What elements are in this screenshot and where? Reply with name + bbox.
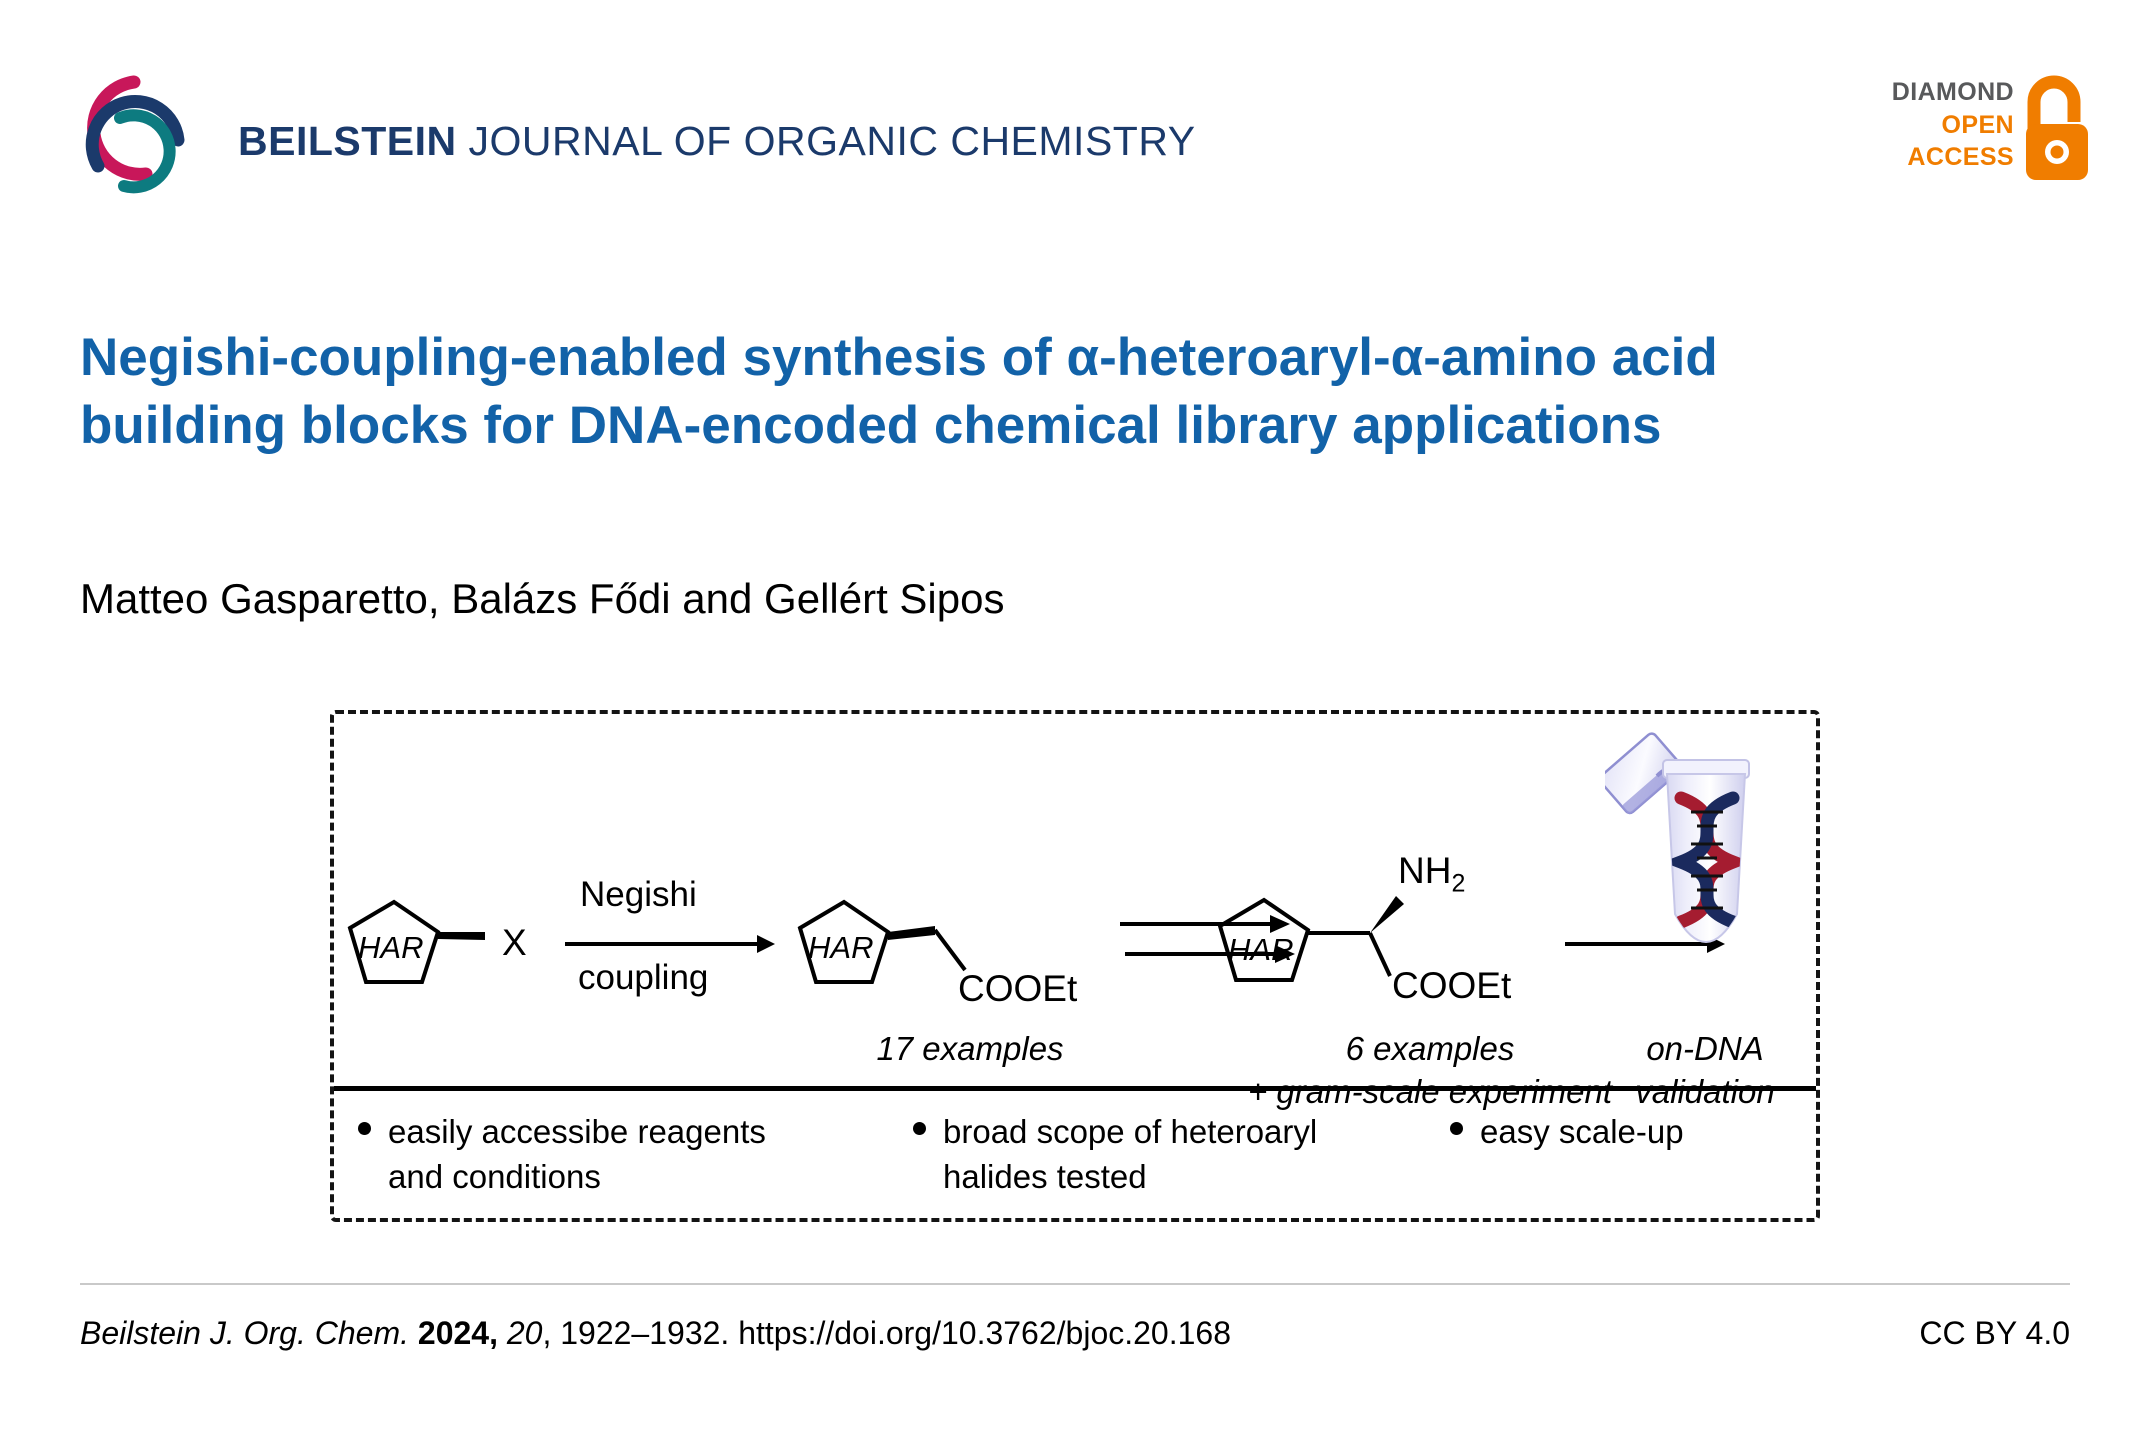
journal-name-rest: JOURNAL OF ORGANIC CHEMISTRY bbox=[457, 118, 1196, 164]
amine-main: NH bbox=[1398, 850, 1451, 891]
structure-3-amine-label: NH2 bbox=[1398, 850, 1465, 898]
author-list: Matteo Gasparetto, Balázs Fődi and Gellé… bbox=[80, 575, 1004, 623]
structure-1-ring-label: HAR bbox=[358, 930, 423, 966]
bullet-item-1: easily accessibe reagents and conditions bbox=[388, 1110, 808, 1200]
caption-6-examples: 6 examples bbox=[1290, 1030, 1570, 1068]
open-padlock-icon bbox=[2020, 72, 2094, 184]
beilstein-triple-arc-logo-icon bbox=[62, 62, 194, 194]
bullet-item-1-line-1: easily accessibe reagents bbox=[388, 1110, 808, 1155]
citation-pages: , 1922–1932. bbox=[542, 1315, 738, 1351]
citation-doi[interactable]: https://doi.org/10.3762/bjoc.20.168 bbox=[738, 1315, 1231, 1351]
structure-2-ring-label: HAR bbox=[808, 930, 873, 966]
highlight-bullet-list: easily accessibe reagents and conditions… bbox=[330, 1110, 1820, 1220]
reaction-condition-line-1: Negishi bbox=[580, 875, 697, 915]
bullet-dot-icon bbox=[1450, 1122, 1463, 1135]
bullet-item-2-line-2: halides tested bbox=[943, 1155, 1373, 1200]
structure-2-ester-label: COOEt bbox=[958, 968, 1077, 1010]
diamond-open-access-badge: DIAMOND OPEN ACCESS bbox=[1864, 72, 2094, 190]
structure-3-ring-label: HAR bbox=[1228, 932, 1293, 968]
reaction-arrow-1 bbox=[565, 932, 775, 956]
citation-line: Beilstein J. Org. Chem. 2024, 20, 1922–1… bbox=[80, 1315, 1231, 1352]
journal-brand: BEILSTEIN bbox=[238, 118, 457, 164]
caption-gram-scale: + gram-scale experiment bbox=[1220, 1073, 1640, 1111]
bullet-item-3: easy scale-up bbox=[1480, 1110, 1810, 1155]
open-access-label: DIAMOND OPEN ACCESS bbox=[1892, 76, 2014, 174]
bullet-item-2: broad scope of heteroaryl halides tested bbox=[943, 1110, 1373, 1200]
license-label: CC BY 4.0 bbox=[1919, 1315, 2070, 1352]
oa-diamond-line: DIAMOND bbox=[1892, 76, 2014, 109]
bullet-item-3-line-1: easy scale-up bbox=[1480, 1110, 1810, 1155]
bullet-dot-icon bbox=[913, 1122, 926, 1135]
citation-journal: Beilstein J. Org. Chem. bbox=[80, 1315, 409, 1351]
bullet-item-2-line-1: broad scope of heteroaryl bbox=[943, 1110, 1373, 1155]
citation-year: 2024, bbox=[418, 1315, 498, 1351]
oa-access-line: ACCESS bbox=[1892, 141, 2014, 174]
amine-subscript: 2 bbox=[1451, 869, 1465, 897]
oa-open-line: OPEN bbox=[1892, 109, 2014, 142]
caption-on-dna: on-DNA bbox=[1605, 1030, 1805, 1068]
reaction-condition-line-2: coupling bbox=[578, 958, 708, 998]
structure-1-leaving-group: X bbox=[502, 922, 527, 964]
journal-masthead: BEILSTEIN JOURNAL OF ORGANIC CHEMISTRY D… bbox=[0, 0, 2150, 210]
bullet-dot-icon bbox=[358, 1122, 371, 1135]
caption-validation: validation bbox=[1605, 1073, 1805, 1111]
journal-title: BEILSTEIN JOURNAL OF ORGANIC CHEMISTRY bbox=[238, 118, 1196, 165]
citation-volume: 20 bbox=[507, 1315, 543, 1351]
caption-17-examples: 17 examples bbox=[840, 1030, 1100, 1068]
article-title: Negishi-coupling-enabled synthesis of α-… bbox=[80, 324, 1800, 462]
bullet-item-1-line-2: and conditions bbox=[388, 1155, 808, 1200]
structure-3-ester-label: COOEt bbox=[1392, 965, 1511, 1007]
footer-divider bbox=[80, 1283, 2070, 1285]
eppendorf-tube-with-dna-icon bbox=[1605, 722, 1805, 1022]
reaction-scheme: HAR X Negishi coupling HAR COOEt 17 exam… bbox=[330, 710, 1820, 1090]
